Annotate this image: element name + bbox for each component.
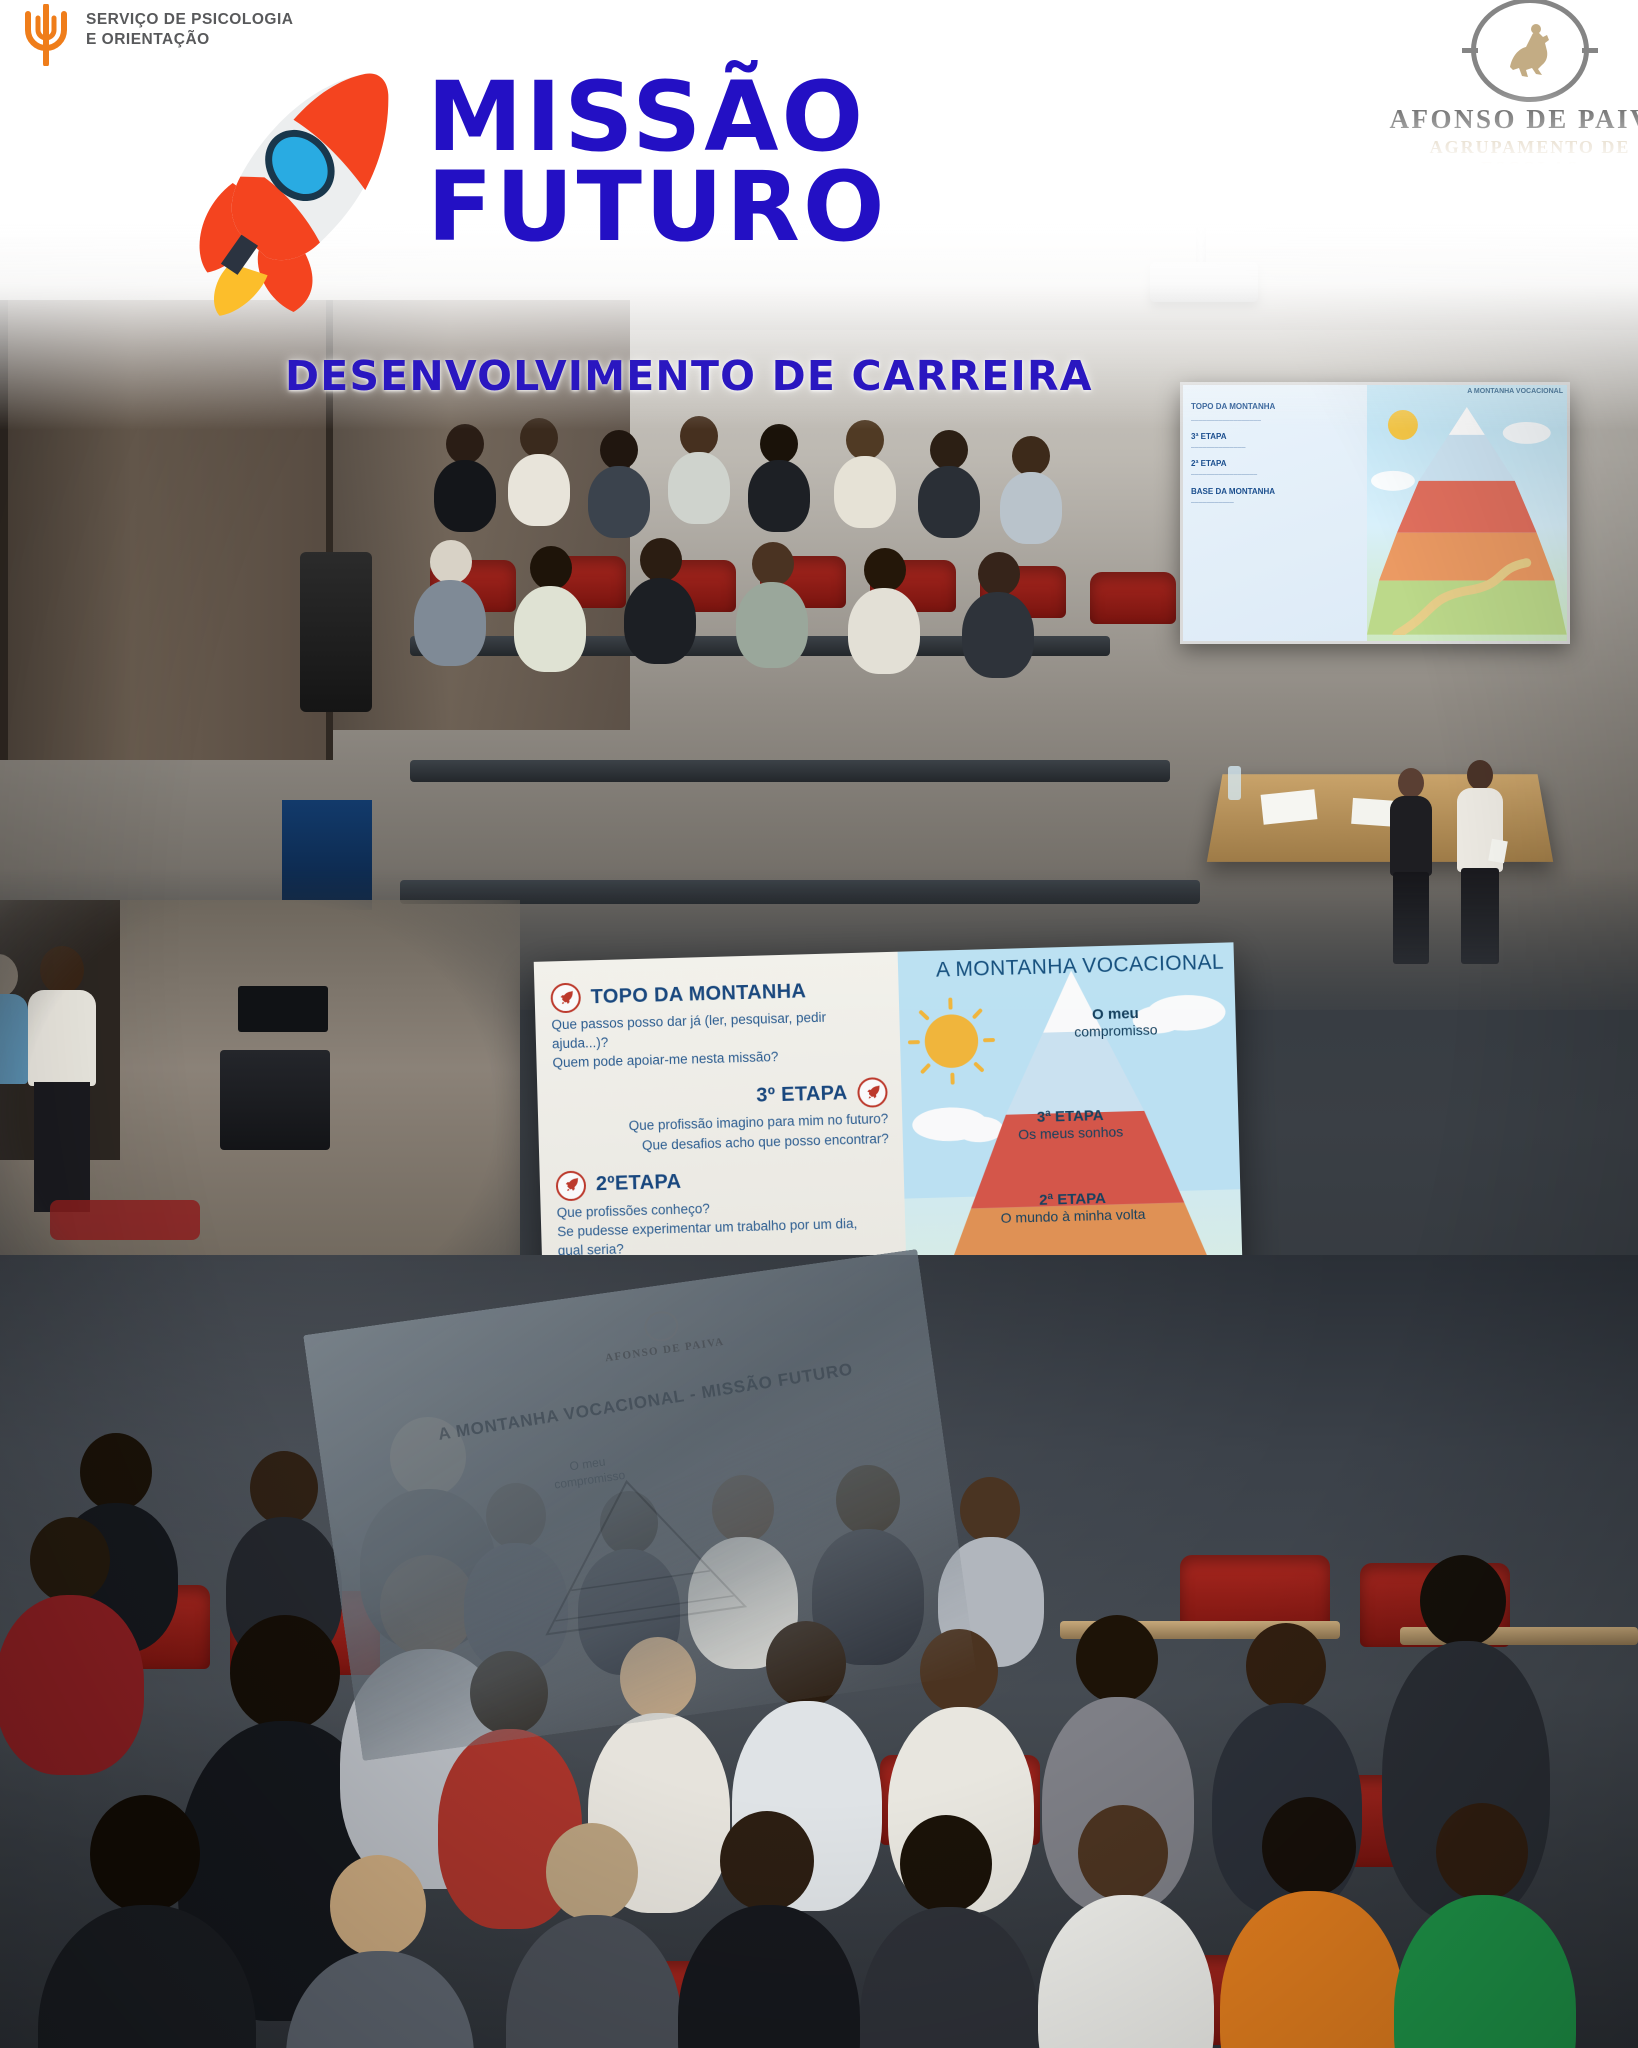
- mountain-band-2: 2ª ETAPA O mundo à minha volta: [972, 1188, 1173, 1227]
- knight-on-horse-crest-icon: [1471, 0, 1589, 102]
- title-text: MISSÃO FUTURO: [427, 62, 888, 252]
- worksheet-title: A MONTANHA VOCACIONAL - MISSÃO FUTURO: [437, 1360, 855, 1445]
- tilted-worksheet-photo: AFONSO DE PAIVA A MONTANHA VOCACIONAL - …: [303, 1249, 977, 1761]
- school-city: CASTELO BRANCO: [1380, 182, 1638, 198]
- rocket-icon: [169, 56, 412, 318]
- spo-logo: SERVIÇO DE PSICOLOGIA E ORIENTAÇÃO: [20, 4, 293, 66]
- school-group: AGRUPAMENTO DE ESCOLAS: [1380, 137, 1638, 179]
- slide-step-body: Que profissões conheço? Se pudesse exper…: [556, 1194, 891, 1261]
- slide-step-label: 3º ETAPA: [756, 1082, 848, 1108]
- poster-canvas: TOPO DA MONTANHA –––––––––––––––––– 3ª E…: [0, 0, 1638, 2048]
- spo-line-1: SERVIÇO DE PSICOLOGIA: [86, 10, 293, 30]
- psi-symbol-icon: [20, 4, 72, 66]
- slide-step-label: TOPO DA MONTANHA: [590, 980, 806, 1009]
- title-block: MISSÃO FUTURO: [175, 62, 888, 312]
- rocket-badge-icon: [857, 1078, 888, 1109]
- slide-step-body: Que profissão imagino para mim no futuro…: [554, 1109, 889, 1157]
- subtitle: DESENVOLVIMENTO DE CARREIRA: [285, 352, 1093, 400]
- av-equipment-cart: [220, 1050, 330, 1150]
- school-name: AFONSO DE PAIVA: [1380, 104, 1638, 135]
- title-line-2: FUTURO: [427, 162, 888, 252]
- theatre-seat: [50, 1200, 200, 1240]
- header: SERVIÇO DE PSICOLOGIA E ORIENTAÇÃO AFONS…: [0, 0, 1638, 430]
- title-line-1: MISSÃO: [427, 72, 888, 162]
- slide-step-body: Que passos posso dar já (ler, pesquisar,…: [551, 1006, 886, 1073]
- spo-line-2: E ORIENTAÇÃO: [86, 30, 293, 50]
- worksheet-school-logo: AFONSO DE PAIVA: [600, 1303, 725, 1364]
- mountain-band-3: 3ª ETAPA Os meus sonhos: [985, 1106, 1156, 1144]
- spo-logo-text: SERVIÇO DE PSICOLOGIA E ORIENTAÇÃO: [86, 4, 293, 50]
- worksheet-mountain-outline: [477, 1451, 802, 1691]
- peak-label-sub: compromisso: [1056, 1021, 1176, 1040]
- school-logo: AFONSO DE PAIVA AGRUPAMENTO DE ESCOLAS C…: [1380, 0, 1638, 164]
- slide-step-label: 2ºETAPA: [596, 1171, 682, 1196]
- laptop: [238, 986, 328, 1032]
- mountain-peak-label: O meu compromisso: [1055, 1004, 1176, 1040]
- crest-ring-icon: [643, 1309, 681, 1343]
- rocket-badge-icon: [556, 1170, 587, 1201]
- rocket-badge-icon: [550, 983, 581, 1014]
